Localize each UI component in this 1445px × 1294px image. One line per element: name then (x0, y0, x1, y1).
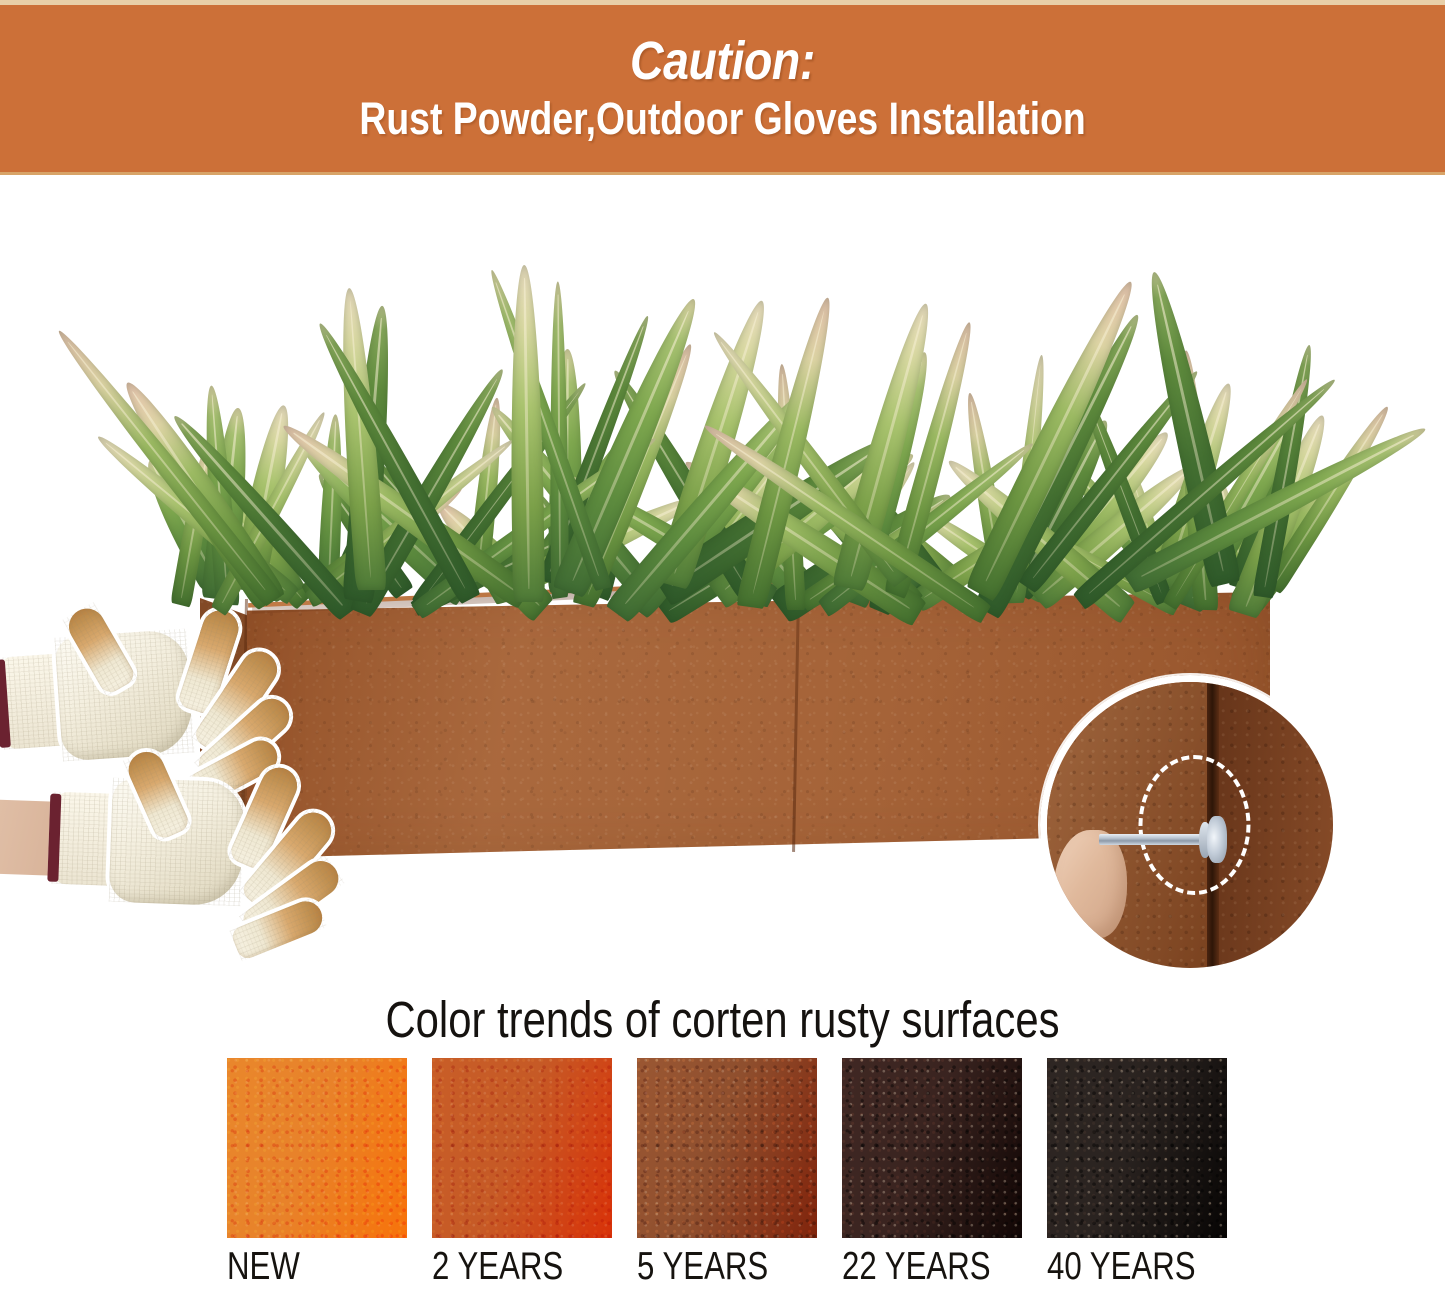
swatch-label: 2 YEARS (432, 1245, 576, 1289)
color-swatch-row: NEW2 YEARS5 YEARS22 YEARS40 YEARS (227, 1058, 1227, 1289)
swatch-cell: 22 YEARS (842, 1058, 1022, 1289)
screw-installation-inset (1040, 675, 1340, 975)
color-swatch (637, 1058, 817, 1238)
product-photo-stage (0, 175, 1445, 990)
caution-subtitle: Rust Powder,Outdoor Gloves Installation (359, 95, 1085, 142)
color-trends-title: Color trends of corten rusty surfaces (130, 990, 1315, 1049)
color-swatch (842, 1058, 1022, 1238)
swatch-cell: 5 YEARS (637, 1058, 817, 1289)
swatch-label: 22 YEARS (842, 1245, 986, 1289)
plant-cluster (120, 195, 1320, 615)
dashed-highlight-circle-icon (1138, 755, 1250, 895)
product-infographic: Caution: Rust Powder,Outdoor Gloves Inst… (0, 0, 1445, 1294)
hand-thumb (1053, 830, 1127, 938)
swatch-cell: 40 YEARS (1047, 1058, 1227, 1289)
plant-leaf (50, 325, 283, 607)
color-swatch (227, 1058, 407, 1238)
caution-title: Caution: (630, 34, 815, 89)
swatch-label: 5 YEARS (637, 1245, 781, 1289)
swatch-cell: 2 YEARS (432, 1058, 612, 1289)
color-swatch (432, 1058, 612, 1238)
work-gloves-pair (0, 595, 400, 975)
swatch-label: 40 YEARS (1047, 1245, 1191, 1289)
caution-banner: Caution: Rust Powder,Outdoor Gloves Inst… (0, 0, 1445, 175)
swatch-label: NEW (227, 1245, 371, 1289)
screw-head (1207, 816, 1227, 863)
work-glove (36, 739, 374, 990)
color-swatch (1047, 1058, 1227, 1238)
color-trends-section: Color trends of corten rusty surfaces NE… (0, 990, 1445, 1294)
swatch-cell: NEW (227, 1058, 407, 1289)
